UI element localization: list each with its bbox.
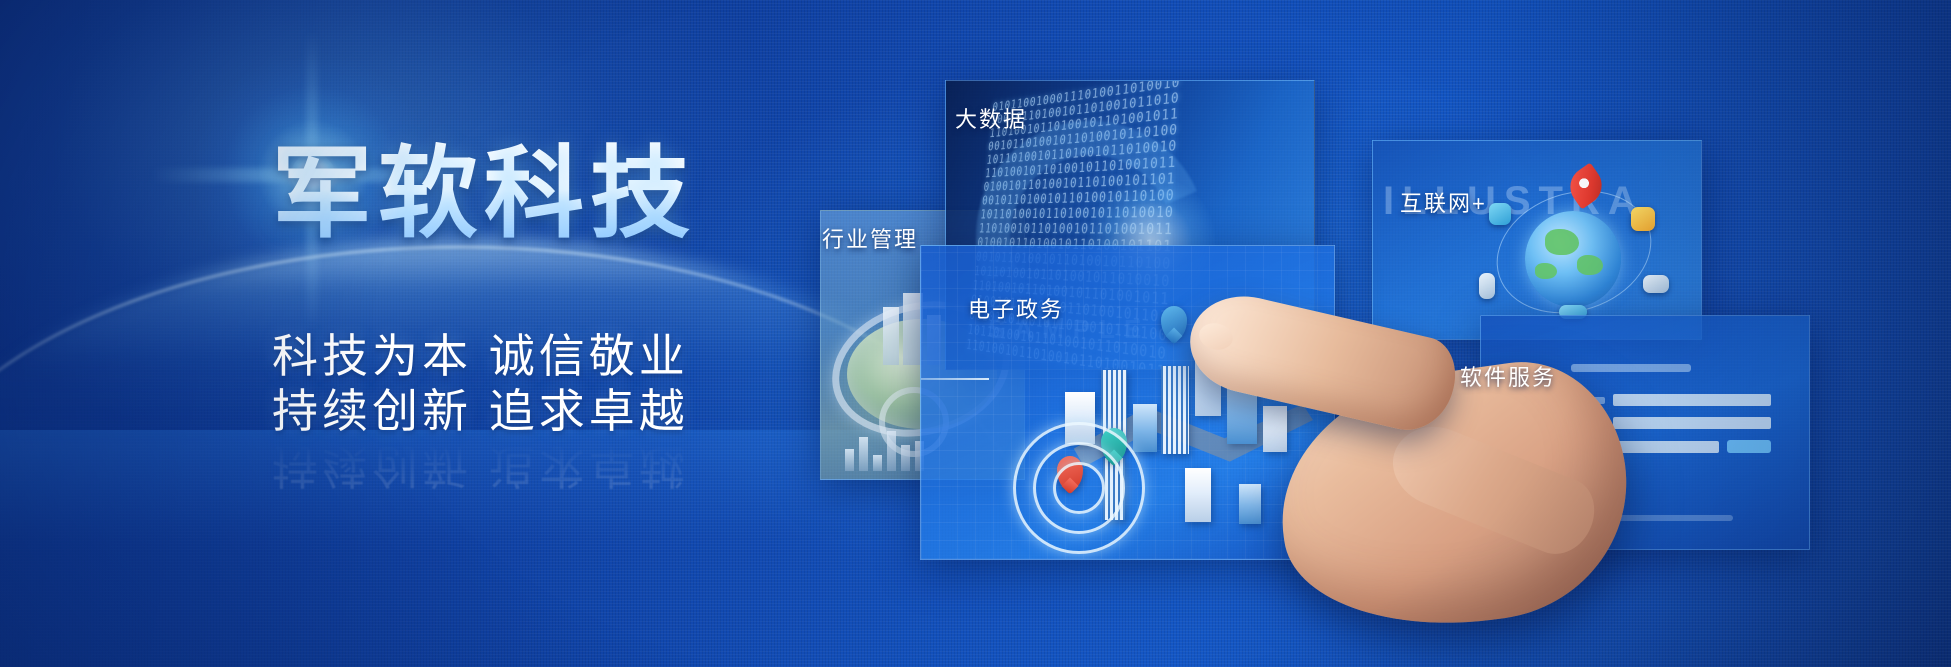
hero-text-block: 军软科技 科技为本 诚信敬业 持续创新 追求卓越 持续创新 追求卓越 (0, 0, 860, 667)
ripple-ring-inner (1053, 462, 1105, 514)
form-row (1571, 440, 1771, 453)
city-building (1195, 348, 1221, 416)
map-pin-blue (1161, 306, 1187, 340)
city-building (1133, 404, 1157, 452)
globe-landmass (1535, 263, 1557, 279)
form-label (1571, 443, 1605, 450)
slogan-line-2: 持续创新 追求卓越 (272, 385, 689, 437)
software-form (1571, 394, 1771, 464)
slogan-line-2-reflection: 持续创新 追求卓越 (272, 440, 689, 492)
city-building (1185, 468, 1211, 522)
industry-building (883, 307, 899, 365)
floating-cards-group: 行业管理 01011001000111010011010010 10010110… (980, 60, 1951, 620)
city-building (1161, 366, 1189, 454)
page-title: 军软科技 (272, 142, 696, 246)
internet-illustration (1473, 163, 1673, 328)
form-label (1571, 420, 1605, 427)
map-pin-yellow (1233, 324, 1259, 358)
city-building (1227, 382, 1257, 444)
internet-globe-icon (1525, 211, 1621, 307)
node-bulb-icon (1631, 207, 1655, 231)
card-label-software-service: 软件服务 (1460, 360, 1556, 392)
form-input[interactable] (1613, 394, 1771, 406)
software-form-footer-bar (1573, 515, 1733, 521)
slogan-line-1: 科技为本 诚信敬业 (272, 330, 689, 382)
city-building (1239, 484, 1261, 524)
node-cloud-icon (1489, 203, 1511, 225)
form-row (1571, 394, 1771, 406)
card-software-service[interactable] (1480, 315, 1810, 550)
form-row (1571, 417, 1771, 429)
card-internet-plus[interactable]: ILLUSTRA (1372, 140, 1702, 340)
software-form-title-bar (1571, 364, 1691, 372)
globe-landmass (1577, 255, 1603, 275)
card-label-internet-plus: 互联网+ (1400, 186, 1487, 218)
node-phone-icon (1479, 273, 1495, 299)
form-label (1571, 397, 1605, 404)
form-submit-button[interactable] (1727, 440, 1771, 453)
card-label-industry-management: 行业管理 (822, 222, 918, 254)
form-input[interactable] (1613, 417, 1771, 429)
hero-banner: 军软科技 科技为本 诚信敬业 持续创新 追求卓越 持续创新 追求卓越 行业管理 … (0, 0, 1951, 667)
globe-landmass (1545, 229, 1579, 255)
card-label-big-data: 大数据 (955, 102, 1027, 134)
ripple-tail-line (920, 378, 989, 380)
node-monitor-icon (1643, 275, 1669, 293)
card-label-e-government: 电子政务 (968, 292, 1064, 324)
city-building (1263, 406, 1287, 452)
form-input[interactable] (1613, 441, 1719, 453)
